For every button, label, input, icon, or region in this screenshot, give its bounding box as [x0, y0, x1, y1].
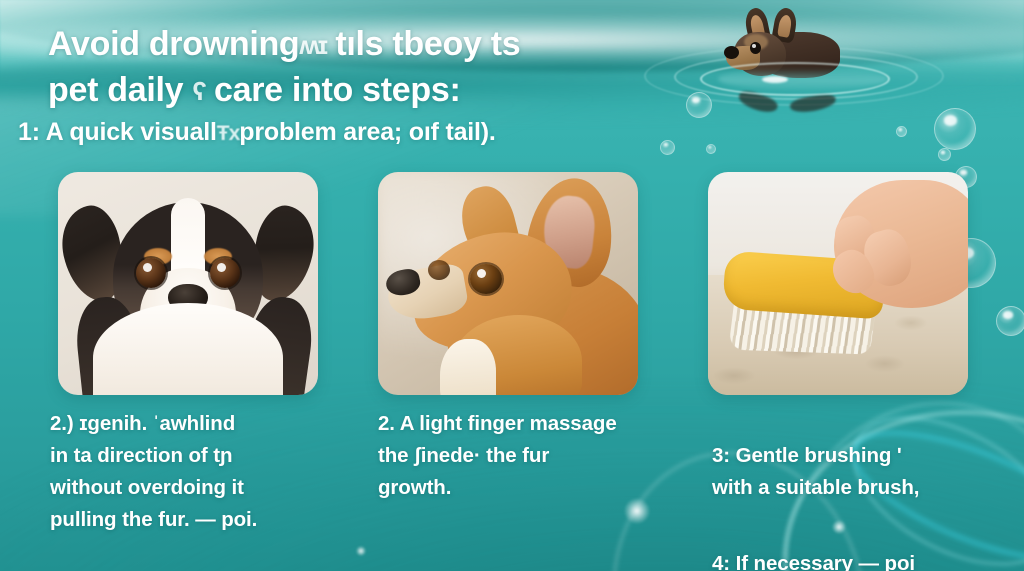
- poster-headline: Avoid drowningʍɪ tıls tbeoy ts pet daily…: [48, 22, 688, 114]
- light-glow-dot: [356, 546, 366, 556]
- water-bubble-icon: [660, 140, 675, 155]
- photo-card-hand-brush[interactable]: [708, 172, 968, 395]
- swimming-dog-illustration: [728, 6, 870, 118]
- headline-line1-glitch: ʍɪ: [299, 23, 326, 67]
- caption-spacer: [712, 504, 1012, 516]
- headline-line2-glitch: ʕ: [192, 69, 204, 113]
- caption-step-2-middle: 2. A light finger massage the ʃinede· th…: [378, 408, 668, 504]
- water-bubble-icon: [896, 126, 907, 137]
- caption-step-4-text: 4: If necessary — poi: [712, 552, 915, 571]
- water-foam: [762, 76, 788, 83]
- dog-nose: [724, 46, 739, 59]
- photo-card-puppy-front[interactable]: [58, 172, 318, 395]
- dog-chest-bib: [440, 339, 496, 395]
- headline-line2-part-b: care into steps:: [214, 71, 461, 109]
- headline-line2-part-a: pet daily: [48, 71, 183, 109]
- water-ripple: [700, 62, 890, 96]
- water-bubble-icon: [996, 306, 1024, 336]
- water-bubble-icon: [706, 144, 716, 154]
- puppy-eye-left: [136, 258, 166, 288]
- subline-part-b: problem area; oıf tail).: [239, 118, 495, 146]
- puppy-front-photo: [58, 172, 318, 395]
- photo-card-ginger-dog-profile[interactable]: [378, 172, 638, 395]
- water-bubble-icon: [938, 148, 951, 161]
- hand-brush-photo: [708, 172, 968, 395]
- caption-step-3-right: 3: Gentle brushing ʹ with a suitable bru…: [712, 408, 1012, 571]
- ginger-dog-photo: [378, 172, 638, 395]
- dog-eye-near: [470, 264, 502, 294]
- subline-part-a: 1: A quick visuall: [18, 118, 217, 146]
- dog-eye-far: [428, 260, 450, 280]
- headline-line1-part-a: Avoid drowning: [48, 25, 299, 63]
- poster-canvas: Avoid drowningʍɪ tıls tbeoy ts pet daily…: [0, 0, 1024, 571]
- headline-line1-part-b: tıls tbeoy ts: [335, 25, 520, 63]
- water-bubble-icon: [934, 108, 976, 150]
- puppy-eye-right: [210, 258, 240, 288]
- subline-glitch: Ŧx: [217, 122, 240, 145]
- caption-step-3-text: 3: Gentle brushing ʹ with a suitable bru…: [712, 444, 919, 499]
- caption-step-2-left: 2.) ɪgenih. ˈawhlind in ta direction of …: [50, 408, 350, 536]
- poster-subline: 1: A quick visuallŦxproblem area; oıf ta…: [18, 116, 658, 150]
- dog-eye: [750, 42, 761, 54]
